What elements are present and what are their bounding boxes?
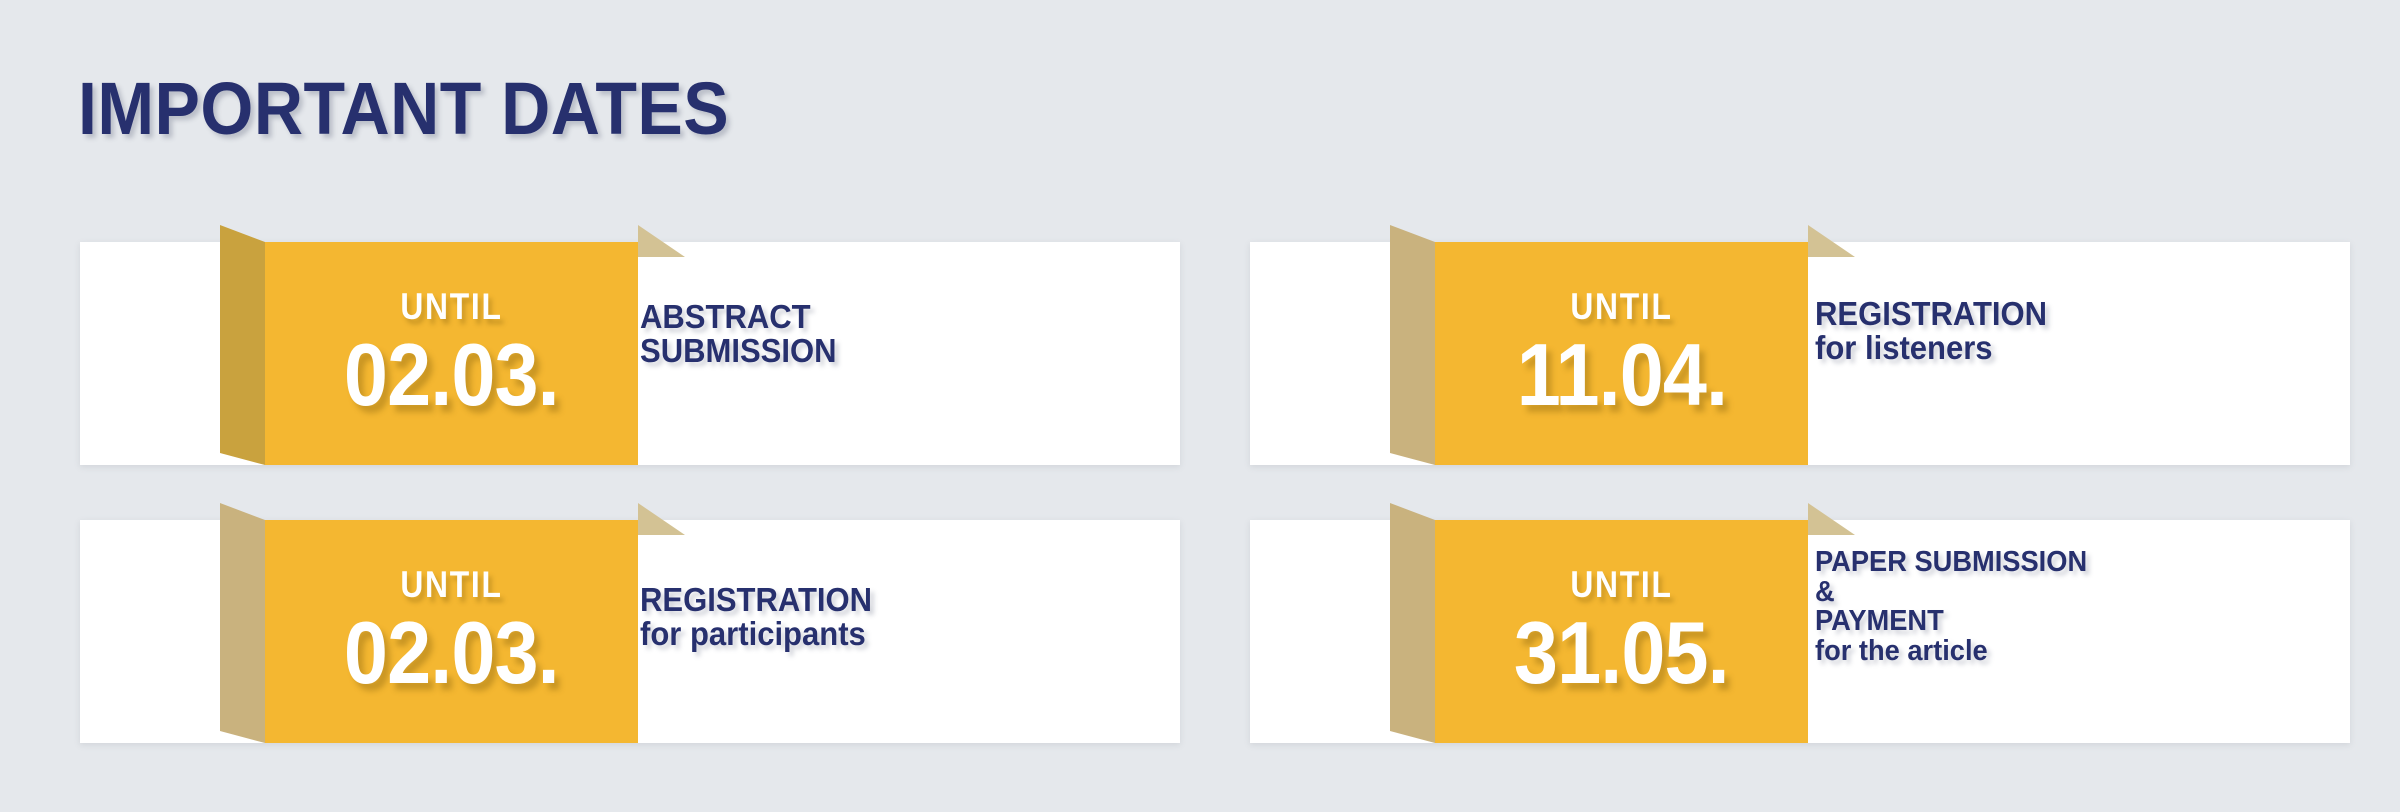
date-card-grid: UNTIL02.03.ABSTRACTSUBMISSIONUNTIL11.04.… [0,0,2400,812]
date-ribbon: UNTIL02.03. [220,503,638,743]
important-dates-panel: IMPORTANT DATES UNTIL02.03.ABSTRACTSUBMI… [0,0,2400,812]
date-ribbon: UNTIL31.05. [1390,503,1808,743]
card-label-line: REGISTRATION [640,583,872,617]
card-label-line: ABSTRACT [640,300,836,334]
ribbon-fold-left [220,503,265,743]
ribbon-fold-right [638,503,685,535]
until-label: UNTIL [400,288,502,325]
card-label-line: REGISTRATION [1815,297,2047,331]
card-label: REGISTRATIONfor listeners [1815,297,2062,364]
date-ribbon: UNTIL02.03. [220,225,638,465]
card-label-line: for participants [640,617,872,651]
until-label: UNTIL [1570,566,1672,603]
ribbon-fold-left [1390,225,1435,465]
until-label: UNTIL [1570,288,1672,325]
card-label-line: for the article [1815,637,2087,667]
ribbon-text-block: UNTIL11.04. [1435,242,1808,465]
ribbon-fold-left [1390,503,1435,743]
ribbon-fold-left [220,225,265,465]
until-label: UNTIL [400,566,502,603]
card-label: PAPER SUBMISSION&PAYMENTfor the article [1815,548,2105,666]
date-ribbon: UNTIL11.04. [1390,225,1808,465]
card-label-line: PAYMENT [1815,607,2087,637]
ribbon-text-block: UNTIL02.03. [265,242,638,465]
deadline-date: 31.05. [1514,609,1729,697]
card-label-line: for listeners [1815,331,2047,365]
ribbon-fold-right [1808,503,1855,535]
ribbon-text-block: UNTIL02.03. [265,520,638,743]
ribbon-fold-right [1808,225,1855,257]
deadline-date: 11.04. [1516,331,1726,419]
date-card-registration-participants[interactable]: UNTIL02.03.REGISTRATIONfor participants [80,520,1180,743]
date-card-abstract-submission[interactable]: UNTIL02.03.ABSTRACTSUBMISSION [80,242,1180,465]
deadline-date: 02.03. [344,609,559,697]
ribbon-text-block: UNTIL31.05. [1435,520,1808,743]
card-label: REGISTRATIONfor participants [640,583,887,650]
date-card-registration-listeners[interactable]: UNTIL11.04.REGISTRATIONfor listeners [1250,242,2350,465]
card-label-line: SUBMISSION [640,334,836,368]
date-card-paper-submission-payment[interactable]: UNTIL31.05.PAPER SUBMISSION&PAYMENTfor t… [1250,520,2350,743]
deadline-date: 02.03. [344,331,559,419]
card-label-line: & [1815,578,2087,608]
card-label: ABSTRACTSUBMISSION [640,300,849,367]
card-label-line: PAPER SUBMISSION [1815,548,2087,578]
